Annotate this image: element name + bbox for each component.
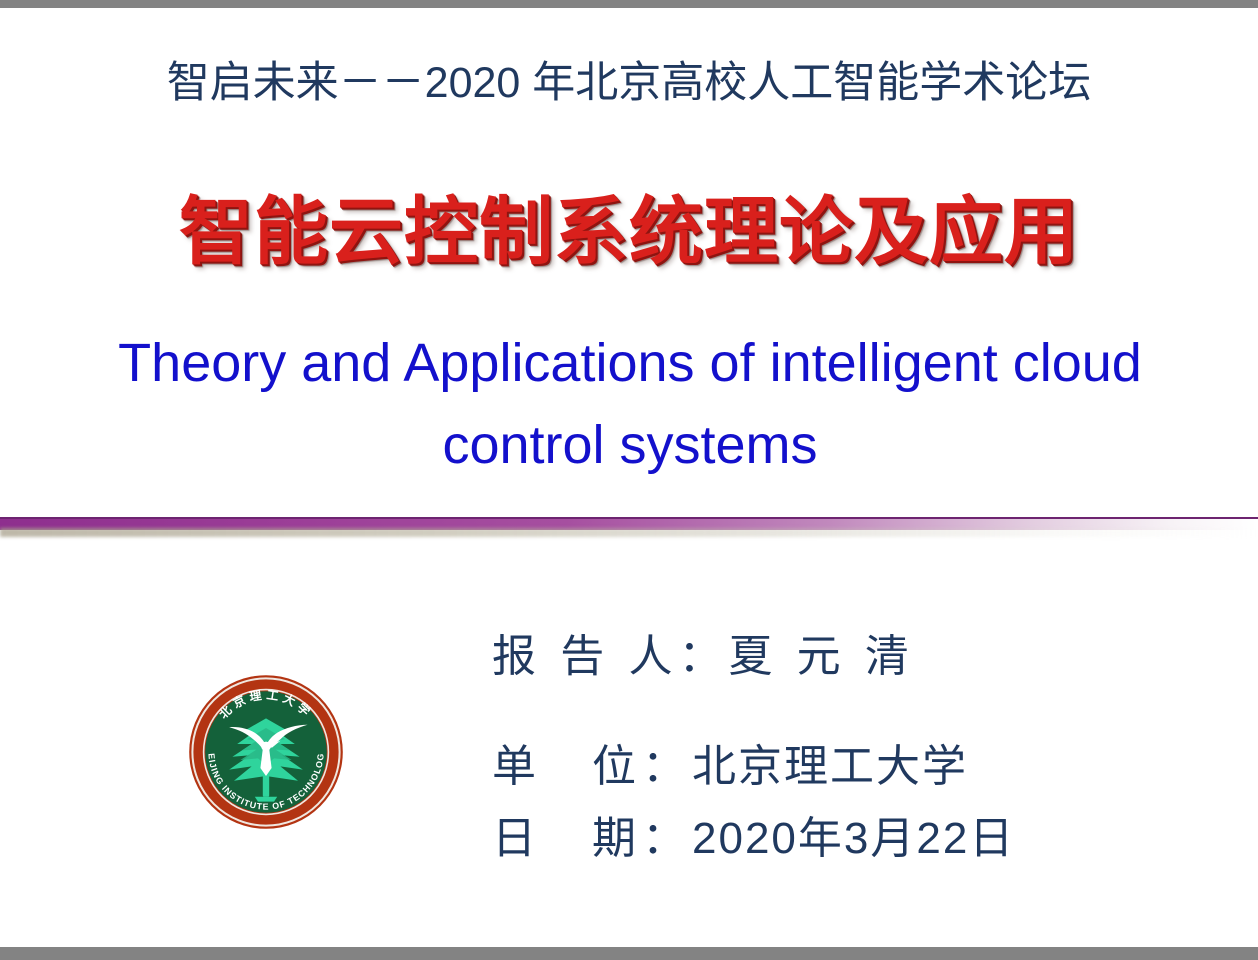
presentation-info-block: 报 告 人：夏 元 清 单 位：北京理工大学 日 期：2020年3月22日 xyxy=(492,620,1015,866)
conference-header: 智启未来－－2020 年北京高校人工智能学术论坛 xyxy=(0,48,1258,110)
presentation-slide: 智启未来－－2020 年北京高校人工智能学术论坛 智能云控制系统理论及应用 Th… xyxy=(0,0,1258,960)
presenter-label: 报 告 人： xyxy=(492,632,728,681)
affiliation-line: 单 位：北京理工大学 xyxy=(492,730,1015,794)
date-value: 2020年3月22日 xyxy=(692,814,1015,863)
decorative-divider xyxy=(0,514,1258,542)
date-line: 日 期：2020年3月22日 xyxy=(492,802,1015,866)
slide-bottom-border-band xyxy=(0,947,1258,960)
affiliation-label: 单 位： xyxy=(492,742,692,791)
date-label: 日 期： xyxy=(492,814,692,863)
affiliation-value: 北京理工大学 xyxy=(692,742,968,791)
slide-title-chinese: 智能云控制系统理论及应用 xyxy=(0,172,1258,279)
presenter-line: 报 告 人：夏 元 清 xyxy=(492,620,1015,684)
beijing-institute-of-technology-logo: 北京理工大学 BEIJING INSTITUTE OF TECHNOLOGY xyxy=(186,672,346,832)
slide-top-border-band xyxy=(0,0,1258,8)
presenter-name: 夏 元 清 xyxy=(728,632,914,681)
divider-shadow xyxy=(0,528,1258,537)
slide-title-english: Theory and Applications of intelligent c… xyxy=(55,322,1205,486)
